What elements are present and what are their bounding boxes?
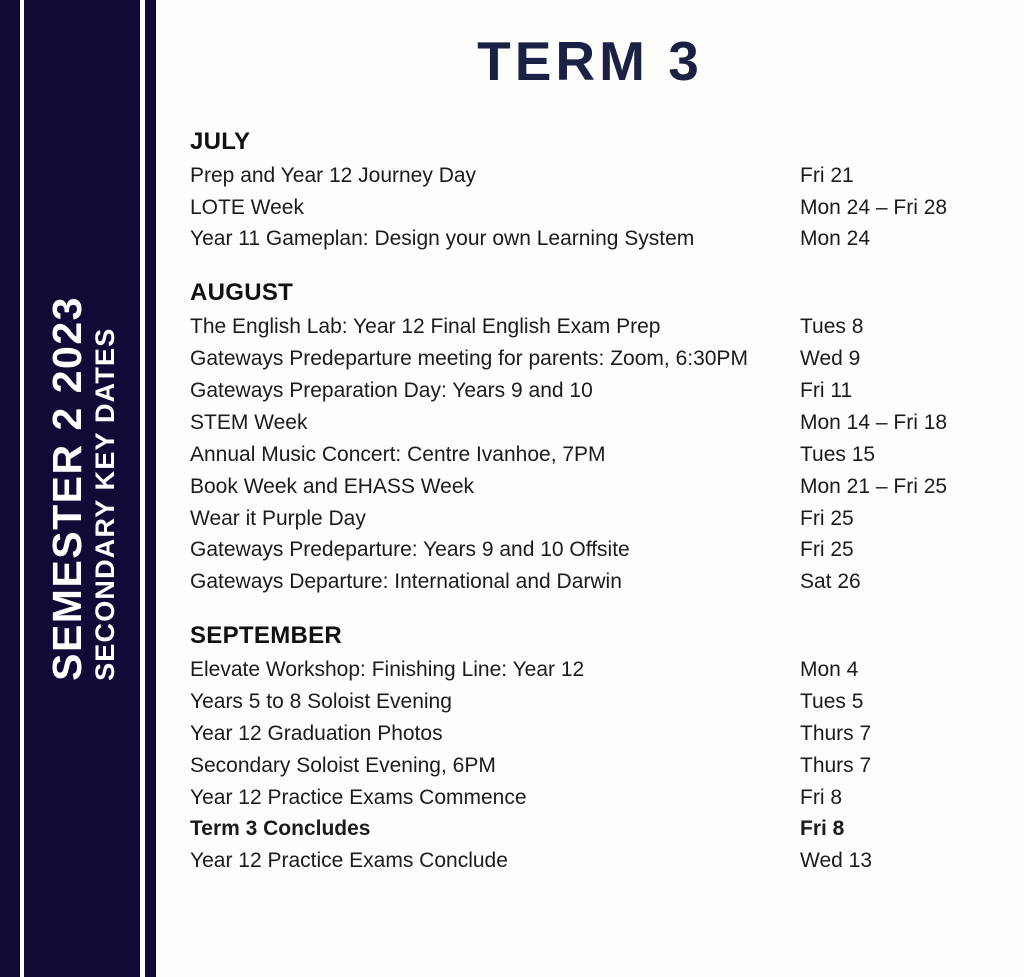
event-name: Prep and Year 12 Journey Day [190,160,800,192]
event-row: Book Week and EHASS WeekMon 21 – Fri 25 [190,471,1014,503]
event-date: Thurs 7 [800,750,1014,782]
event-row: Wear it Purple DayFri 25 [190,503,1014,535]
event-name: Annual Music Concert: Centre Ivanhoe, 7P… [190,439,800,471]
event-date: Fri 8 [800,782,1014,814]
event-row: Term 3 ConcludesFri 8 [190,813,1014,845]
term-dates-poster: SEMESTER 2 2023 SECONDARY KEY DATES TERM… [0,0,1024,977]
schedule-list: JULYPrep and Year 12 Journey DayFri 21LO… [190,126,1014,877]
event-name: Gateways Preparation Day: Years 9 and 10 [190,375,800,407]
event-row: Elevate Workshop: Finishing Line: Year 1… [190,654,1014,686]
event-date: Mon 4 [800,654,1014,686]
event-date: Thurs 7 [800,718,1014,750]
event-row: The English Lab: Year 12 Final English E… [190,311,1014,343]
month-heading: SEPTEMBER [190,620,1014,652]
event-name: Elevate Workshop: Finishing Line: Year 1… [190,654,800,686]
month-block: JULYPrep and Year 12 Journey DayFri 21LO… [190,126,1014,255]
event-name: Gateways Departure: International and Da… [190,566,800,598]
event-name: Book Week and EHASS Week [190,471,800,503]
month-heading: JULY [190,126,1014,158]
month-block: AUGUSTThe English Lab: Year 12 Final Eng… [190,277,1014,598]
event-date: Mon 14 – Fri 18 [800,407,1014,439]
event-name: Gateways Predeparture meeting for parent… [190,343,800,375]
event-row: Year 12 Graduation PhotosThurs 7 [190,718,1014,750]
sidebar-subtitle-label: SECONDARY KEY DATES [90,328,118,681]
main-content: TERM 3 JULYPrep and Year 12 Journey DayF… [156,0,1024,977]
event-date: Fri 25 [800,503,1014,535]
event-name: Term 3 Concludes [190,813,800,845]
event-date: Mon 21 – Fri 25 [800,471,1014,503]
event-name: Year 12 Graduation Photos [190,718,800,750]
sidebar-semester-label: SEMESTER 2 2023 [46,296,89,681]
event-row: Gateways Predeparture meeting for parent… [190,343,1014,375]
sidebar-navy-band: SEMESTER 2 2023 SECONDARY KEY DATES [0,0,156,977]
event-date: Fri 21 [800,160,1014,192]
event-row: Gateways Predeparture: Years 9 and 10 Of… [190,534,1014,566]
event-date: Sat 26 [800,566,1014,598]
event-row: Gateways Departure: International and Da… [190,566,1014,598]
sidebar-pinstripe-right [140,0,145,977]
month-heading: AUGUST [190,277,1014,309]
event-row: Annual Music Concert: Centre Ivanhoe, 7P… [190,439,1014,471]
event-name: Gateways Predeparture: Years 9 and 10 Of… [190,534,800,566]
event-name: Year 12 Practice Exams Conclude [190,845,800,877]
sidebar-text-container: SEMESTER 2 2023 SECONDARY KEY DATES [24,0,140,977]
sidebar-rotated-text: SEMESTER 2 2023 SECONDARY KEY DATES [46,296,119,681]
event-date: Fri 25 [800,534,1014,566]
event-row: Gateways Preparation Day: Years 9 and 10… [190,375,1014,407]
event-row: LOTE WeekMon 24 – Fri 28 [190,192,1014,224]
event-name: Years 5 to 8 Soloist Evening [190,686,800,718]
event-date: Fri 11 [800,375,1014,407]
event-row: Prep and Year 12 Journey DayFri 21 [190,160,1014,192]
event-name: Wear it Purple Day [190,503,800,535]
event-name: Year 12 Practice Exams Commence [190,782,800,814]
event-row: Secondary Soloist Evening, 6PMThurs 7 [190,750,1014,782]
event-name: Secondary Soloist Evening, 6PM [190,750,800,782]
event-name: STEM Week [190,407,800,439]
event-date: Tues 5 [800,686,1014,718]
event-date: Wed 13 [800,845,1014,877]
month-block: SEPTEMBERElevate Workshop: Finishing Lin… [190,620,1014,877]
event-row: Year 12 Practice Exams CommenceFri 8 [190,782,1014,814]
event-date: Wed 9 [800,343,1014,375]
event-row: Years 5 to 8 Soloist EveningTues 5 [190,686,1014,718]
event-row: Year 12 Practice Exams ConcludeWed 13 [190,845,1014,877]
event-date: Tues 8 [800,311,1014,343]
event-row: STEM WeekMon 14 – Fri 18 [190,407,1014,439]
page-title: TERM 3 [156,34,1024,89]
event-name: Year 11 Gameplan: Design your own Learni… [190,223,800,255]
event-date: Tues 15 [800,439,1014,471]
event-row: Year 11 Gameplan: Design your own Learni… [190,223,1014,255]
event-date: Mon 24 – Fri 28 [800,192,1014,224]
event-date: Mon 24 [800,223,1014,255]
event-date: Fri 8 [800,813,1014,845]
event-name: The English Lab: Year 12 Final English E… [190,311,800,343]
event-name: LOTE Week [190,192,800,224]
